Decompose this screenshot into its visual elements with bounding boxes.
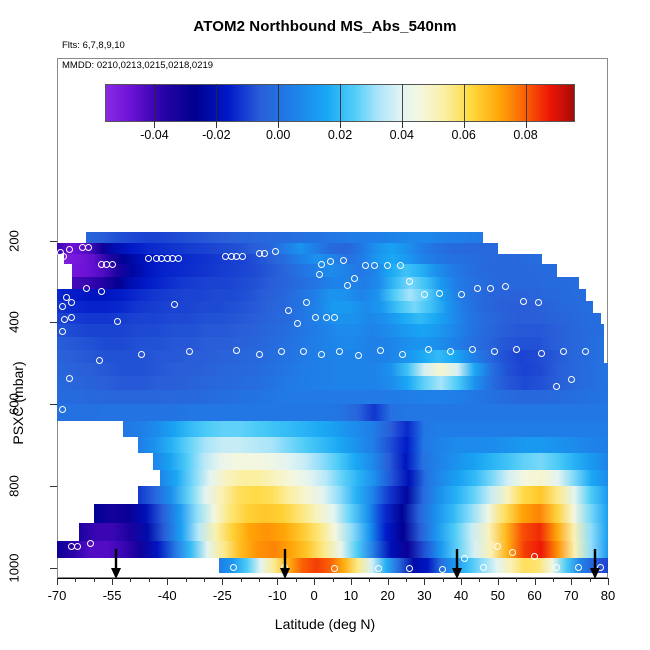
chart-title: ATOM2 Northbound MS_Abs_540nm (0, 18, 650, 35)
colorbar-divider (402, 84, 403, 122)
sample-marker (138, 351, 145, 358)
x-major-tick (571, 578, 572, 585)
sample-marker (74, 543, 81, 550)
colorbar-divider (154, 84, 155, 122)
colorbar-tick-label: 0.08 (513, 128, 537, 142)
heatmap-row (57, 541, 608, 557)
sample-marker (171, 301, 178, 308)
x-tick-label: 30 (417, 588, 431, 603)
latitude-marker-arrow (278, 549, 292, 579)
sample-marker (425, 346, 432, 353)
x-minor-tick (369, 578, 370, 582)
heatmap-row (57, 324, 604, 336)
y-major-tick (50, 322, 57, 323)
x-tick-label: 40 (454, 588, 468, 603)
x-tick-label: 50 (491, 588, 505, 603)
x-major-tick (424, 578, 425, 585)
sample-marker (377, 347, 384, 354)
sample-marker (272, 248, 279, 255)
sample-marker (336, 348, 343, 355)
colorbar: -0.04-0.020.000.020.040.060.08 (105, 84, 575, 122)
x-major-tick (314, 578, 315, 585)
sample-marker (447, 348, 454, 355)
x-major-tick (498, 578, 499, 585)
heatmap-row (138, 486, 608, 504)
sample-marker (59, 328, 66, 335)
sample-marker (256, 351, 263, 358)
colorbar-divider (278, 84, 279, 122)
sample-marker (491, 348, 498, 355)
heatmap-row (94, 504, 608, 522)
heatmap-panel (57, 212, 608, 578)
x-tick-label: 60 (527, 588, 541, 603)
x-axis-title: Latitude (deg N) (0, 616, 650, 632)
y-tick-label: 200 (7, 230, 22, 252)
heatmap-row (57, 363, 608, 376)
sample-marker (487, 285, 494, 292)
heatmap-row (138, 437, 608, 453)
sample-marker (316, 271, 323, 278)
x-minor-tick (186, 578, 187, 582)
heatmap-row (160, 470, 608, 486)
heatmap-row (57, 376, 608, 389)
sample-marker (582, 348, 589, 355)
x-minor-tick (149, 578, 150, 582)
sample-marker (568, 376, 575, 383)
colorbar-tick-label: -0.02 (202, 128, 231, 142)
colorbar-tick-label: 0.00 (266, 128, 290, 142)
heatmap-row (57, 404, 608, 420)
colorbar-tick-label: 0.02 (328, 128, 352, 142)
sample-marker (513, 346, 520, 353)
sample-marker (87, 540, 94, 547)
y-major-tick (50, 486, 57, 487)
x-minor-tick (130, 578, 131, 582)
colorbar-tick-label: 0.06 (452, 128, 476, 142)
y-major-tick (50, 568, 57, 569)
sample-marker (318, 351, 325, 358)
sample-marker (300, 348, 307, 355)
colorbar-divider (340, 84, 341, 122)
sample-marker (553, 383, 560, 390)
sample-marker (531, 553, 538, 560)
sample-marker (509, 549, 516, 556)
latitude-marker-arrow (450, 549, 464, 579)
heatmap-row (86, 232, 483, 243)
x-tick-label: -10 (268, 588, 287, 603)
x-major-tick (112, 578, 113, 585)
x-major-tick (461, 578, 462, 585)
sample-marker (502, 283, 509, 290)
x-tick-label: -70 (48, 588, 67, 603)
sample-marker (351, 275, 358, 282)
sample-marker (399, 351, 406, 358)
x-major-tick (351, 578, 352, 585)
sample-marker (436, 290, 443, 297)
colorbar-divider (464, 84, 465, 122)
sample-marker (239, 253, 246, 260)
sample-marker (421, 291, 428, 298)
x-major-tick (277, 578, 278, 585)
x-minor-tick (553, 578, 554, 582)
colorbar-tick-label: 0.04 (390, 128, 414, 142)
heatmap-row (79, 523, 608, 541)
figure-root: ATOM2 Northbound MS_Abs_540nm Flts: 6,7,… (0, 0, 650, 650)
x-major-tick (608, 578, 609, 585)
x-minor-tick (75, 578, 76, 582)
x-tick-label: 0 (311, 588, 318, 603)
x-major-tick (535, 578, 536, 585)
sample-marker (458, 291, 465, 298)
x-tick-label: 10 (344, 588, 358, 603)
sample-marker (469, 346, 476, 353)
x-minor-tick (296, 578, 297, 582)
sample-marker (186, 348, 193, 355)
sample-marker (480, 564, 487, 571)
flights-label: Flts: 6,7,8,9,10 (62, 40, 125, 51)
heatmap-row (72, 264, 557, 276)
heatmap-row (57, 337, 604, 350)
sample-marker (340, 257, 347, 264)
x-tick-label: -40 (158, 588, 177, 603)
x-tick-label: 80 (601, 588, 615, 603)
x-minor-tick (516, 578, 517, 582)
y-tick-label: 1000 (7, 553, 22, 582)
sample-marker (344, 282, 351, 289)
x-tick-label: -55 (103, 588, 122, 603)
latitude-marker-arrow (588, 549, 602, 579)
colorbar-divider (526, 84, 527, 122)
x-major-tick (167, 578, 168, 585)
sample-marker (375, 565, 382, 572)
sample-marker (109, 261, 116, 268)
sample-marker (59, 406, 66, 413)
heatmap-row (123, 421, 608, 437)
x-tick-label: 70 (564, 588, 578, 603)
sample-marker (98, 288, 105, 295)
sample-marker (294, 320, 301, 327)
colorbar-divider (216, 84, 217, 122)
sample-marker (331, 565, 338, 572)
heatmap-row (57, 301, 593, 313)
dates-label: MMDD: 0210,0213,0215,0218,0219 (62, 60, 213, 71)
x-minor-tick (259, 578, 260, 582)
x-minor-tick (241, 578, 242, 582)
heatmap-row (57, 289, 586, 301)
sample-marker (175, 255, 182, 262)
x-major-tick (57, 578, 58, 585)
x-minor-tick (94, 578, 95, 582)
sample-marker (520, 298, 527, 305)
sample-marker (145, 255, 152, 262)
sample-marker (96, 357, 103, 364)
y-major-tick (50, 404, 57, 405)
sample-marker (61, 316, 68, 323)
sample-marker (535, 299, 542, 306)
x-major-tick (388, 578, 389, 585)
x-minor-tick (479, 578, 480, 582)
x-tick-label: -25 (213, 588, 232, 603)
sample-marker (278, 348, 285, 355)
latitude-marker-arrow (109, 549, 123, 579)
x-minor-tick (333, 578, 334, 582)
y-axis-title: PSXC (mbar) (10, 303, 26, 503)
sample-marker (59, 303, 66, 310)
x-tick-label: 20 (380, 588, 394, 603)
colorbar-tick-label: -0.04 (140, 128, 169, 142)
x-major-tick (222, 578, 223, 585)
y-major-tick (50, 241, 57, 242)
sample-marker (560, 348, 567, 355)
sample-marker (331, 314, 338, 321)
x-minor-tick (406, 578, 407, 582)
heatmap-row (57, 390, 608, 404)
sample-marker (318, 261, 325, 268)
x-minor-tick (204, 578, 205, 582)
heatmap-row (153, 453, 608, 469)
x-minor-tick (443, 578, 444, 582)
heatmap-row (64, 254, 542, 265)
